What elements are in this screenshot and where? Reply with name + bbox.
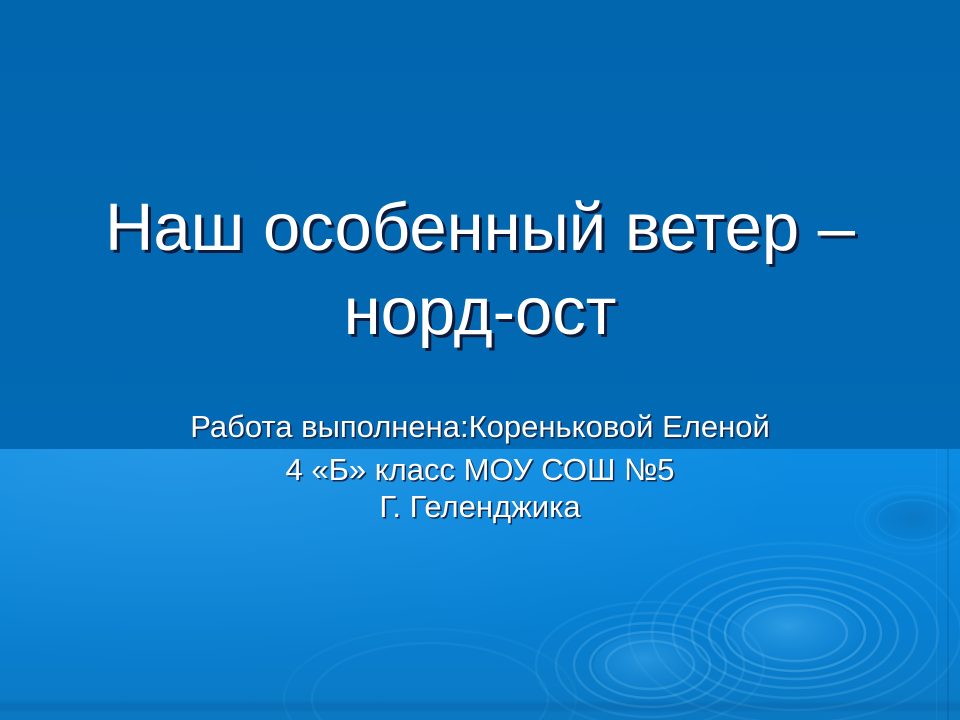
slide-text-layer: Наш особенный ветер – норд-ост Работа вы…: [0, 0, 960, 720]
slide-subtitle: Работа выполнена:Кореньковой Еленой 4 «Б…: [140, 408, 820, 525]
title-slide: Наш особенный ветер – норд-ост Работа вы…: [0, 0, 960, 720]
slide-title: Наш особенный ветер – норд-ост: [60, 186, 900, 354]
subtitle-line-city: Г. Геленджика: [140, 488, 820, 525]
subtitle-line-class: 4 «Б» класс МОУ СОШ №5: [140, 451, 820, 488]
subtitle-line-author: Работа выполнена:Кореньковой Еленой: [140, 408, 820, 445]
